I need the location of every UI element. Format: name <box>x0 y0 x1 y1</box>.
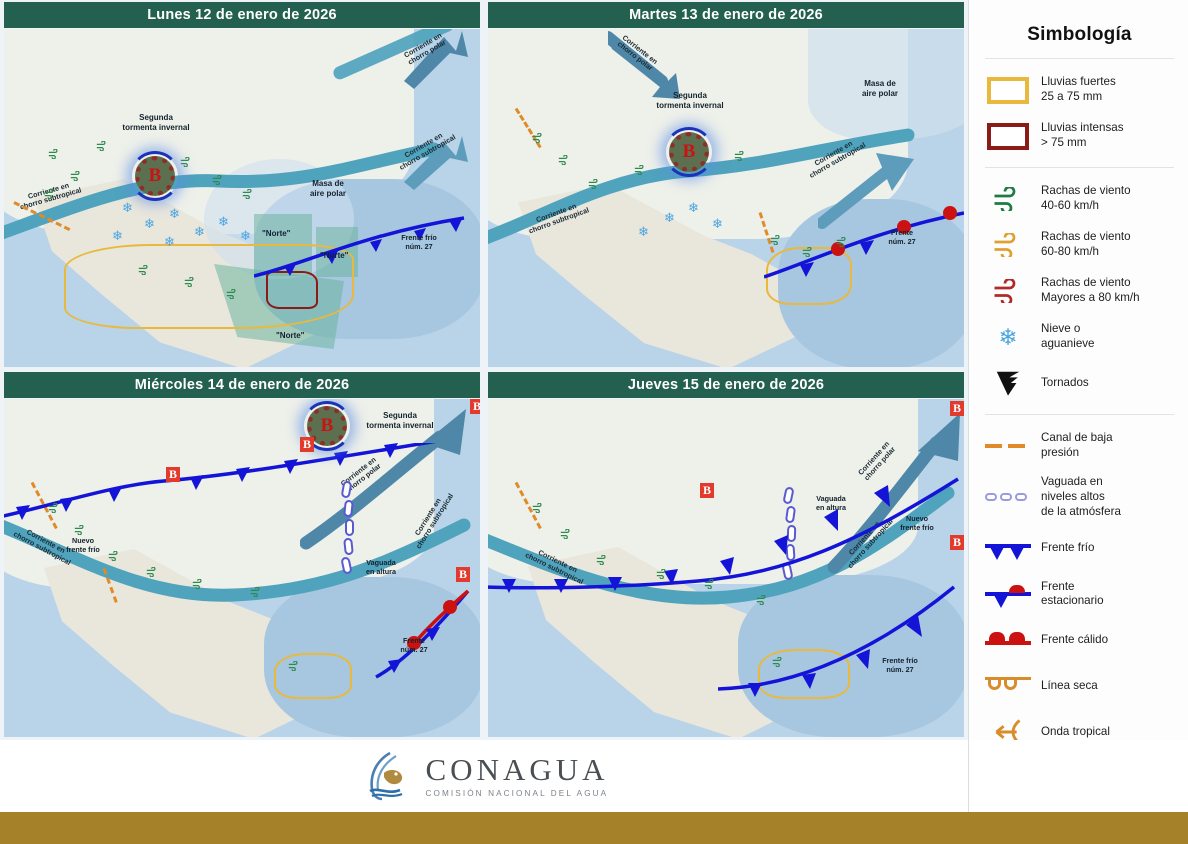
high-level-trough-icon <box>985 480 1031 514</box>
wind-gust-icon <box>772 657 785 667</box>
wind-gust-icon <box>146 567 159 577</box>
wind-gust-icon <box>560 529 573 539</box>
cold-front-label: Frente frío núm. 27 <box>386 234 452 251</box>
legend-item-label: Tornados <box>1041 376 1089 391</box>
low-pressure-marker-gulf: B <box>456 567 470 582</box>
low-pressure-marker-b1: B <box>166 467 180 482</box>
legend-item-label: Vaguada en niveles altos de la atmósfera <box>1041 475 1121 519</box>
legend-title: Simbología <box>981 24 1178 46</box>
wind-gust-icon <box>44 189 57 199</box>
legend-item-label: Onda tropical <box>1041 725 1110 740</box>
low-pressure-marker-b3: B <box>470 399 480 414</box>
dashed-orange-line-icon <box>985 429 1031 463</box>
norte-label-3: "Norte" <box>276 331 304 340</box>
front-label: Frente núm. 27 <box>870 229 934 246</box>
wind-gust-icon <box>656 569 669 579</box>
storm-label: Segunda tormenta invernal <box>352 411 448 430</box>
new-front-label: Nuevo frente frío <box>52 537 114 554</box>
warm-front-icon <box>985 623 1031 657</box>
legend-item-linea-seca[interactable]: Línea seca <box>981 663 1178 709</box>
legend-item-label: Lluvias intensas > 75 mm <box>1041 121 1124 151</box>
legend-item-label: Nieve o aguanieve <box>1041 322 1095 352</box>
snow-icon: ❄ <box>218 215 229 228</box>
trough-label: Vaguada en altura <box>802 495 860 512</box>
storm-label: Segunda tormenta invernal <box>110 113 202 132</box>
wind-gust-icon <box>242 189 255 199</box>
map-canvas-miercoles[interactable]: Corriente en chorro subtropical Corrient… <box>4 399 480 737</box>
legend-item-label: Rachas de viento Mayores a 80 km/h <box>1041 276 1140 306</box>
trough-label: Vaguada en altura <box>352 559 410 576</box>
winter-storm-low-symbol[interactable]: B <box>132 153 178 199</box>
legend-item-frente-calido[interactable]: Frente cálido <box>981 617 1178 663</box>
low-pressure-marker-b3: B <box>950 535 964 550</box>
polar-air-mass-label: Masa de aire polar <box>296 179 360 198</box>
weather-forecast-page: Lunes 12 de enero de 2026 "Norte" "Norte… <box>0 0 1188 844</box>
snowflake-icon: ❄ <box>985 320 1031 354</box>
wind-gust-icon <box>532 133 545 143</box>
map-panel-miercoles[interactable]: Miércoles 14 de enero de 2026 Corriente … <box>0 370 484 740</box>
wind-gust-icon <box>184 277 197 287</box>
map-panel-lunes[interactable]: Lunes 12 de enero de 2026 "Norte" "Norte… <box>0 0 484 370</box>
low-pressure-marker-b2: B <box>300 437 314 452</box>
wind-gust-icon <box>802 247 815 257</box>
stationary-front-line <box>372 577 480 687</box>
wind-gust-icon <box>596 555 609 565</box>
snow-icon: ❄ <box>169 207 180 220</box>
stationary-front-icon <box>985 577 1031 611</box>
storm-b-letter: B <box>666 129 712 175</box>
front-label: Frente núm. 27 <box>384 637 444 654</box>
wind-gust-icon <box>250 587 263 597</box>
wind-gust-icon <box>532 503 545 513</box>
wind-gust-icon <box>74 525 87 535</box>
legend-item-nieve[interactable]: ❄ Nieve o aguanieve <box>981 314 1178 360</box>
wind-gust-icon <box>734 151 747 161</box>
cold-front-icon <box>985 531 1031 565</box>
map-canvas-jueves[interactable]: Corriente en chorro subtropical Corrient… <box>488 399 964 737</box>
legend-item-tornados[interactable]: Tornados <box>981 360 1178 406</box>
front-label: Frente frío núm. 27 <box>868 657 932 674</box>
legend-divider <box>985 167 1174 168</box>
conagua-logo-icon <box>360 749 414 803</box>
wind-gust-icon <box>138 265 151 275</box>
wind-gust-icon <box>108 551 121 561</box>
legend-item-frente-frio[interactable]: Frente frío <box>981 525 1178 571</box>
polar-air-mass-label: Masa de aire polar <box>848 79 912 98</box>
norte-label-2: "Norte" <box>320 251 348 260</box>
new-front-label: Nuevo frente frío <box>886 515 948 532</box>
legend-item-rachas-60-80[interactable]: Rachas de viento 60-80 km/h <box>981 222 1178 268</box>
heavy-rain-area-yellow <box>274 653 352 699</box>
wind-gust-icon <box>48 149 61 159</box>
wind-gust-icon <box>212 175 225 185</box>
panel-title-lunes: Lunes 12 de enero de 2026 <box>4 2 480 28</box>
legend-item-label: Frente estacionario <box>1041 580 1104 610</box>
wind-gust-icon <box>770 235 783 245</box>
wind-gust-icon <box>836 237 849 247</box>
panel-title-jueves: Jueves 15 de enero de 2026 <box>488 372 964 398</box>
stationary-front-line <box>764 199 964 289</box>
map-panel-martes[interactable]: Martes 13 de enero de 2026 Corriente en … <box>484 0 968 370</box>
wind-gust-icon <box>96 141 109 151</box>
low-pressure-marker-b2: B <box>950 401 964 416</box>
snow-icon: ❄ <box>240 229 251 242</box>
legend-item-label: Frente cálido <box>1041 633 1108 648</box>
wind-gust-icon <box>48 503 61 513</box>
map-panel-jueves[interactable]: Jueves 15 de enero de 2026 Corriente en … <box>484 370 968 740</box>
winter-storm-low-symbol[interactable]: B <box>666 129 712 175</box>
storm-label: Segunda tormenta invernal <box>642 91 738 110</box>
legend-divider <box>985 414 1174 415</box>
wind-gust-icon <box>634 165 647 175</box>
legend-item-frente-estacionario[interactable]: Frente estacionario <box>981 571 1178 617</box>
legend-item-lluvias-intensas[interactable]: Lluvias intensas > 75 mm <box>981 113 1178 159</box>
legend-item-label: Rachas de viento 60-80 km/h <box>1041 230 1131 260</box>
wind-gust-icon <box>226 289 239 299</box>
panel-title-miercoles: Miércoles 14 de enero de 2026 <box>4 372 480 398</box>
wind-gust-icon <box>192 579 205 589</box>
snow-icon: ❄ <box>122 201 133 214</box>
snow-icon: ❄ <box>638 225 649 238</box>
map-canvas-martes[interactable]: Corriente en chorro subtropical Corrient… <box>488 29 964 367</box>
tornado-icon <box>985 366 1031 400</box>
storm-b-letter: B <box>132 153 178 199</box>
wind-gust-green-icon <box>985 182 1031 216</box>
wind-gust-orange-icon <box>985 228 1031 262</box>
yellow-rectangle-icon <box>985 73 1031 107</box>
legend-item-label: Rachas de viento 40-60 km/h <box>1041 184 1131 214</box>
wind-gust-red-icon <box>985 274 1031 308</box>
footer-logo-area: CONAGUA COMISIÓN NACIONAL DEL AGUA <box>0 740 968 812</box>
legend-panel: Simbología Lluvias fuertes 25 a 75 mm Ll… <box>968 0 1188 740</box>
legend-item-vaguada[interactable]: Vaguada en niveles altos de la atmósfera <box>981 469 1178 525</box>
bottom-gold-bar <box>0 812 1188 844</box>
legend-item-label: Canal de baja presión <box>1041 431 1113 461</box>
legend-divider <box>985 58 1174 59</box>
legend-item-label: Frente frío <box>1041 541 1094 556</box>
snow-icon: ❄ <box>164 235 175 248</box>
wind-gust-icon <box>70 171 83 181</box>
legend-item-lluvias-fuertes[interactable]: Lluvias fuertes 25 a 75 mm <box>981 67 1178 113</box>
logo-subtitle: COMISIÓN NACIONAL DEL AGUA <box>426 789 609 798</box>
wind-gust-icon <box>756 595 769 605</box>
dry-line-icon <box>985 669 1031 703</box>
snow-icon: ❄ <box>194 225 205 238</box>
snow-icon: ❄ <box>688 201 699 214</box>
snow-icon: ❄ <box>712 217 723 230</box>
map-canvas-lunes[interactable]: "Norte" "Norte" "Norte" Corriente en cho… <box>4 29 480 367</box>
dark-red-rectangle-icon <box>985 119 1031 153</box>
legend-item-rachas-40-60[interactable]: Rachas de viento 40-60 km/h <box>981 176 1178 222</box>
snow-icon: ❄ <box>664 211 675 224</box>
legend-item-label: Línea seca <box>1041 679 1098 694</box>
snow-icon: ❄ <box>144 217 155 230</box>
wind-gust-icon <box>180 157 193 167</box>
low-pressure-marker-b1: B <box>700 483 714 498</box>
cold-front-27-line <box>718 579 964 709</box>
conagua-wordmark: CONAGUA COMISIÓN NACIONAL DEL AGUA <box>426 754 609 798</box>
legend-item-canal-baja-presion[interactable]: Canal de baja presión <box>981 423 1178 469</box>
wind-gust-icon <box>558 155 571 165</box>
wind-gust-icon <box>704 579 717 589</box>
panel-title-martes: Martes 13 de enero de 2026 <box>488 2 964 28</box>
legend-item-label: Lluvias fuertes 25 a 75 mm <box>1041 75 1116 105</box>
norte-label-1: "Norte" <box>262 229 290 238</box>
legend-footer-spacer <box>968 740 1188 812</box>
map-panels-grid: Lunes 12 de enero de 2026 "Norte" "Norte… <box>0 0 968 740</box>
wind-gust-icon <box>588 179 601 189</box>
legend-item-rachas-80[interactable]: Rachas de viento Mayores a 80 km/h <box>981 268 1178 314</box>
snow-icon: ❄ <box>112 229 123 242</box>
wind-gust-icon <box>288 661 301 671</box>
logo-title: CONAGUA <box>426 754 609 785</box>
